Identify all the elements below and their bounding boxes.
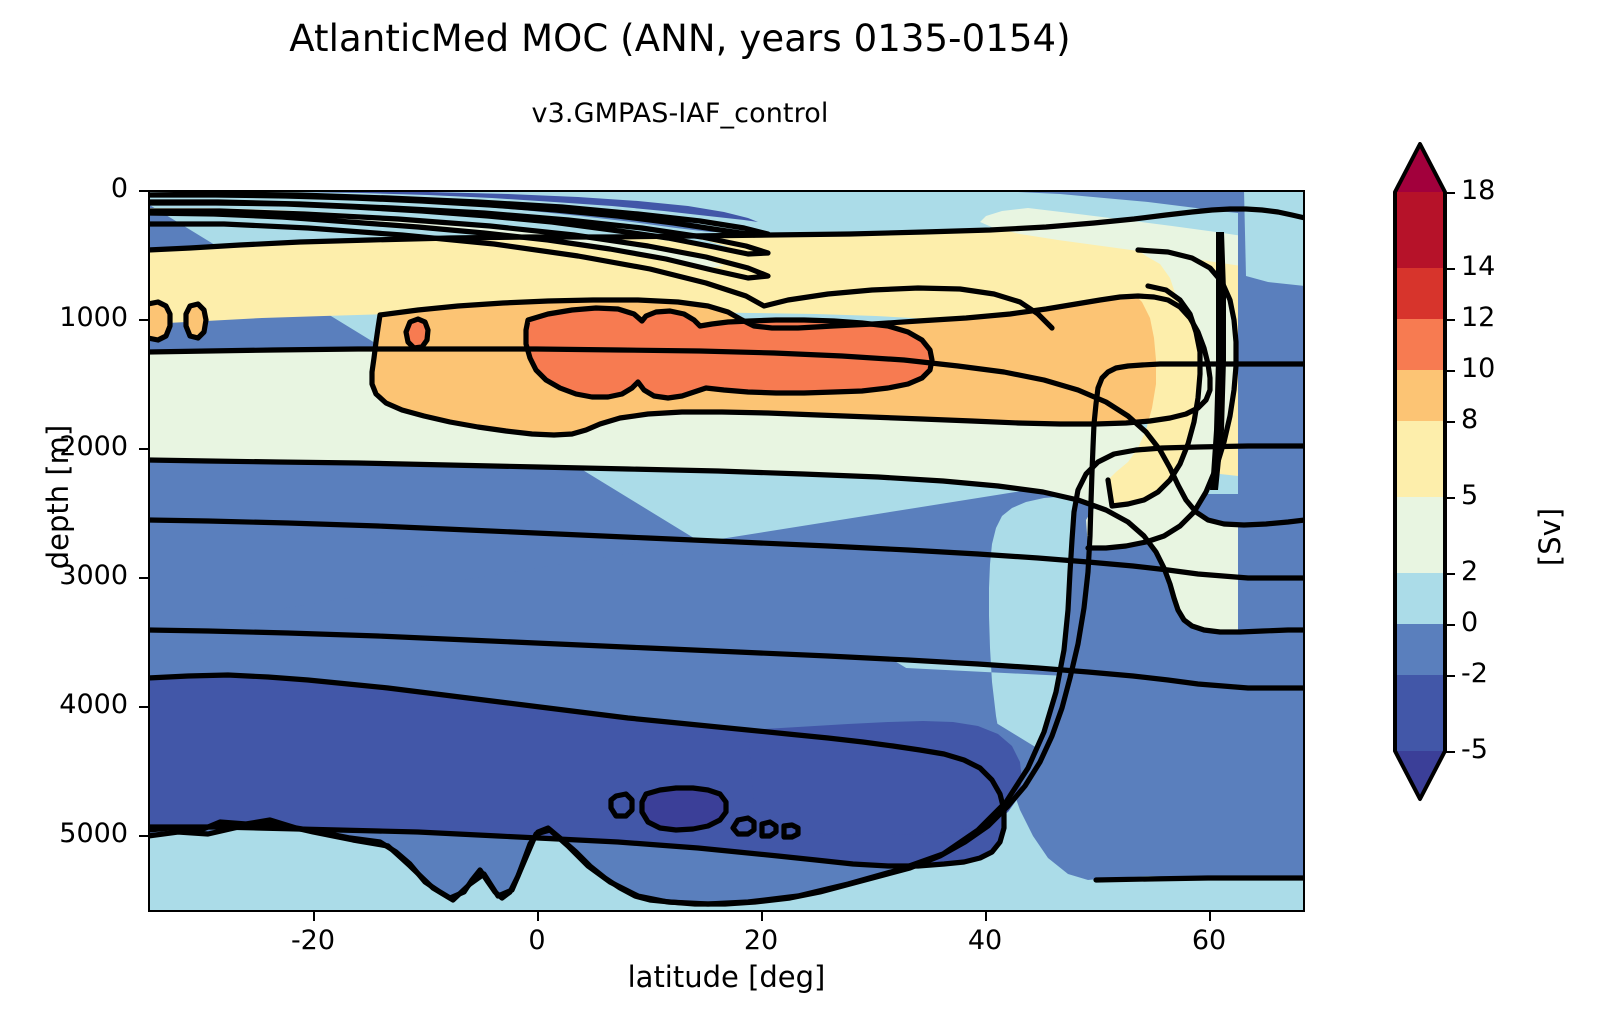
xtick-label: 20 — [701, 925, 821, 956]
xtick-label: 40 — [925, 925, 1045, 956]
colorbar-label: -5 — [1461, 734, 1488, 765]
ytick-mark — [139, 448, 148, 450]
colorbar-label: 0 — [1461, 607, 1478, 638]
colorbar-cell-neg2-0 — [1395, 624, 1445, 675]
colorbar-tick — [1445, 268, 1455, 270]
contour-plot — [148, 190, 1305, 912]
colorbar-cell-0-2 — [1395, 573, 1445, 624]
xtick-mark — [1209, 912, 1211, 921]
colorbar-label: 2 — [1461, 556, 1478, 587]
xtick-mark — [537, 912, 539, 921]
y-axis-label: depth [m] — [41, 387, 75, 607]
fill-nordic-upper-light — [1244, 190, 1305, 286]
figure-subtitle: v3.GMPAS-IAF_control — [0, 100, 1360, 127]
colorbar-tick — [1445, 624, 1455, 626]
contour-plot-svg — [148, 190, 1305, 912]
ytick-mark — [139, 190, 148, 192]
colorbar-label: -2 — [1461, 658, 1488, 689]
x-axis-label: latitude [deg] — [148, 960, 1305, 994]
colorbar-extend-max — [1395, 144, 1445, 192]
colorbar-tick — [1445, 675, 1455, 677]
colorbar: 18 14 12 10 8 5 2 0 -2 -5 — [1395, 190, 1445, 885]
colorbar-unit-label: [Sv] — [1533, 457, 1567, 617]
ytick-mark — [139, 706, 148, 708]
ytick-label: 4000 — [0, 689, 128, 720]
ytick-mark — [139, 577, 148, 579]
xtick-mark — [761, 912, 763, 921]
page-title: AtlanticMed MOC (ANN, years 0135-0154) — [0, 20, 1360, 57]
xtick-mark — [985, 912, 987, 921]
colorbar-tick — [1445, 497, 1455, 499]
colorbar-cell-5-8 — [1395, 421, 1445, 497]
ytick-label: 5000 — [0, 818, 128, 849]
colorbar-cell-neg5-neg2 — [1395, 675, 1445, 751]
colorbar-swatches — [1395, 144, 1445, 799]
colorbar-tick — [1445, 370, 1455, 372]
colorbar-label: 8 — [1461, 404, 1478, 435]
fill-band-neg5-neg2-right — [748, 721, 1022, 835]
xtick-label: 0 — [477, 925, 597, 956]
colorbar-extend-min — [1395, 751, 1445, 799]
colorbar-tick — [1445, 192, 1455, 194]
colorbar-tick — [1445, 319, 1455, 321]
colorbar-label: 10 — [1461, 353, 1495, 384]
ytick-label: 1000 — [0, 302, 128, 333]
xtick-label: 60 — [1149, 925, 1269, 956]
xtick-label: -20 — [253, 925, 373, 956]
colorbar-cell-2-5 — [1395, 497, 1445, 573]
colorbar-tick — [1445, 573, 1455, 575]
colorbar-tick — [1445, 421, 1455, 423]
colorbar-svg — [1391, 142, 1449, 932]
colorbar-cell-12-14 — [1395, 268, 1445, 319]
colorbar-tick — [1445, 751, 1455, 753]
colorbar-cell-14-18 — [1395, 192, 1445, 268]
ytick-mark — [139, 835, 148, 837]
colorbar-cell-10-12 — [1395, 319, 1445, 370]
colorbar-label: 5 — [1461, 480, 1478, 511]
colorbar-label: 12 — [1461, 302, 1495, 333]
ytick-label: 0 — [0, 173, 128, 204]
colorbar-label: 18 — [1461, 175, 1495, 206]
colorbar-label: 14 — [1461, 251, 1495, 282]
colorbar-cell-8-10 — [1395, 370, 1445, 421]
ytick-mark — [139, 319, 148, 321]
figure-canvas: AtlanticMed MOC (ANN, years 0135-0154) v… — [0, 0, 1599, 1030]
xtick-mark — [313, 912, 315, 921]
